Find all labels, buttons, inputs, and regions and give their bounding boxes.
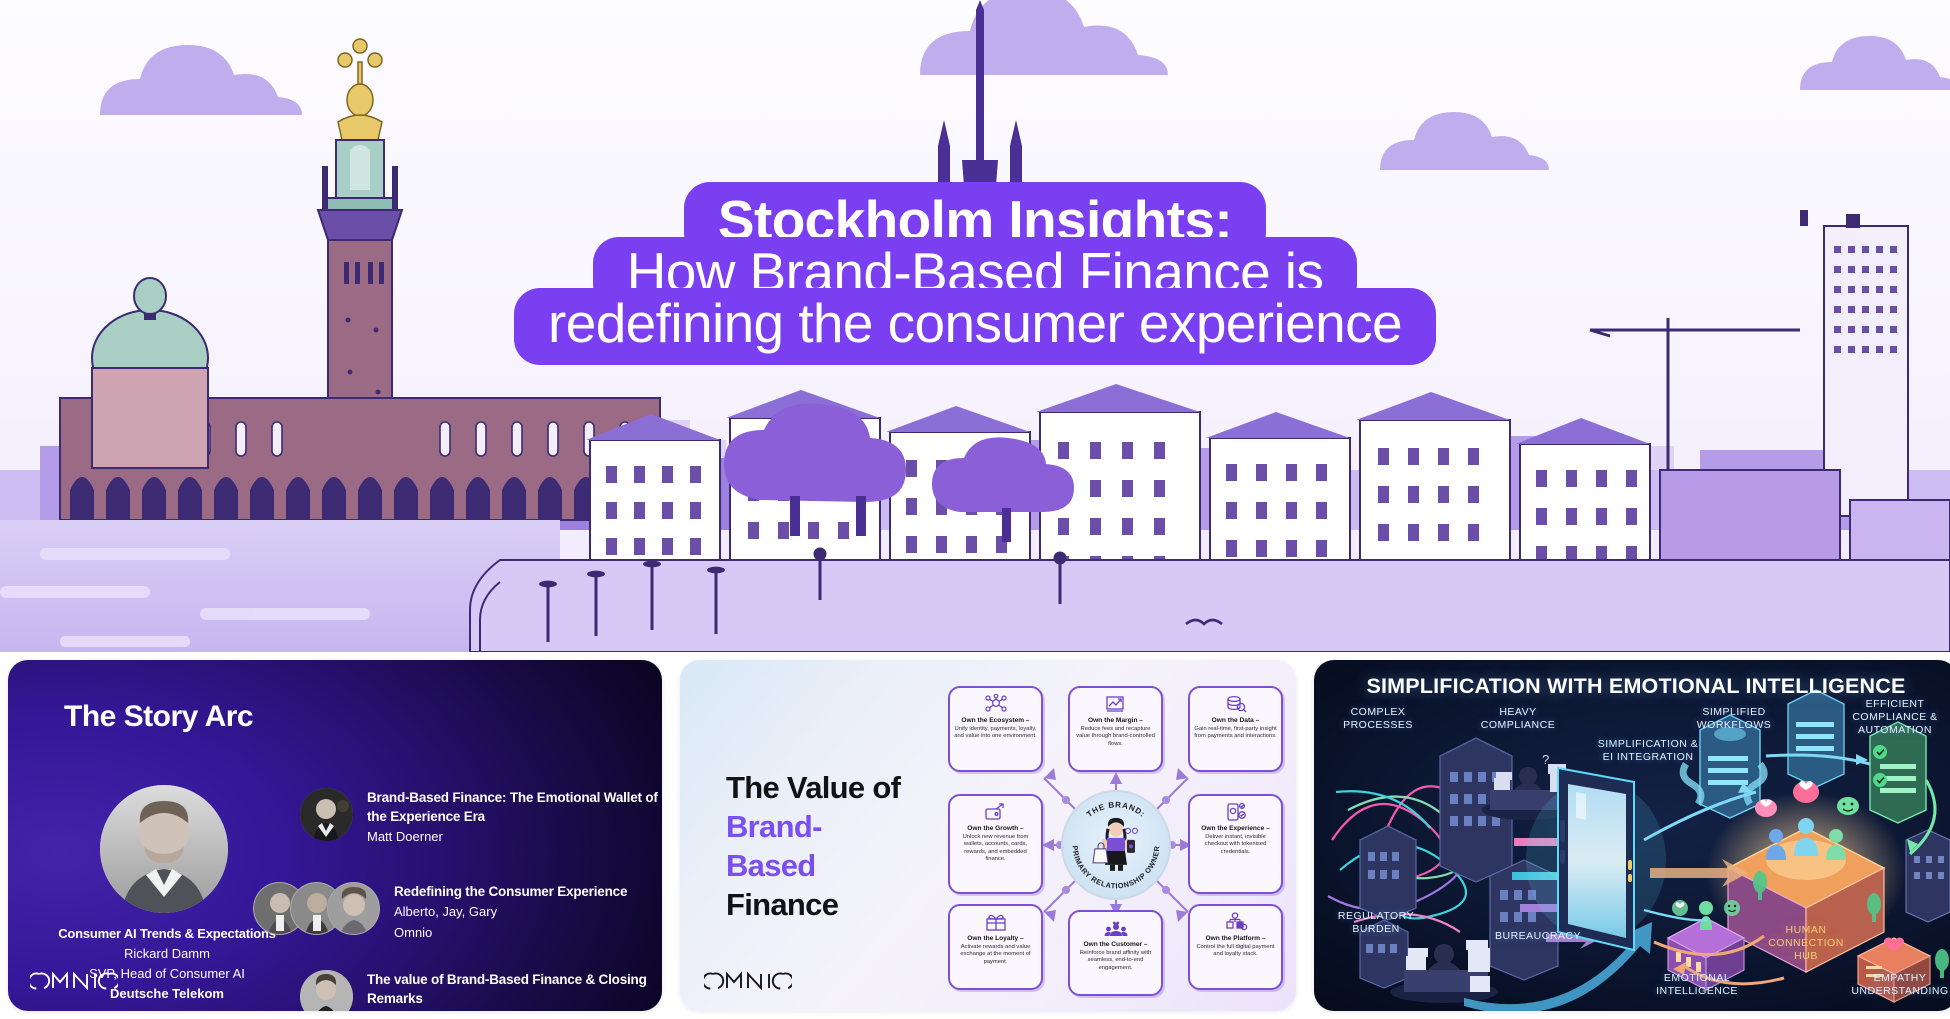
session-title: Redefining the Consumer Experience [394, 882, 627, 901]
session-title: Brand-Based Finance: The Emotional Walle… [367, 788, 662, 826]
compliance-server [1788, 690, 1844, 787]
panel-simplification-ei[interactable]: ? [1314, 660, 1950, 1011]
brand-value-diagram: Own the Ecosystem – Unify identity, paym… [948, 682, 1284, 992]
session-speakers: Alberto, Jay, Gary [394, 902, 627, 922]
value-card[interactable]: Own the Experience – Deliver instant, in… [1188, 794, 1283, 894]
value-title-line-3: Based [726, 846, 900, 885]
session-company: Omnio [394, 923, 627, 943]
speaker-avatar [300, 970, 353, 1011]
keynote-avatar [100, 785, 228, 913]
value-card-heading: Own the Growth – [967, 825, 1023, 833]
promenade [470, 560, 1950, 652]
hero-title-line-3: redefining the consumer experience [514, 288, 1436, 365]
keynote-name: Rickard Damm [22, 946, 312, 961]
hub-top-label: THE BRAND: [1085, 800, 1147, 819]
mobile-checkout-icon [1224, 801, 1248, 823]
omnio-logo [30, 971, 118, 996]
value-card[interactable]: Own the Margin – Reduce fees and recaptu… [1068, 686, 1163, 772]
speaker-avatar-group [253, 882, 380, 935]
value-card[interactable]: Own the Growth – Unlock new revenue from… [948, 794, 1043, 894]
value-card-heading: Own the Data – [1212, 717, 1260, 725]
value-card-heading: Own the Customer – [1083, 941, 1147, 949]
session-title: The value of Brand-Based Finance & Closi… [367, 970, 662, 1008]
value-card[interactable]: Own the Loyalty – Activate rewards and v… [948, 904, 1043, 990]
value-card-body: Gain real-time, first-party insight from… [1194, 726, 1277, 741]
wallet-arrow-up-icon [984, 801, 1008, 823]
gift-box-icon [984, 911, 1008, 933]
platform-stack-icon [1224, 911, 1248, 933]
value-card-heading: Own the Experience – [1201, 825, 1270, 833]
value-card-body: Reinforce brand affinity with seamless, … [1074, 950, 1157, 972]
brand-hub-circle: THE BRAND: PRIMARY RELATIONSHIP OWNER [1061, 790, 1171, 900]
label-simplification-ei: SIMPLIFICATION &EI INTEGRATION [1592, 738, 1704, 764]
panel-row: The Story Arc Consumer AI Trends & Expec… [0, 660, 1950, 1019]
value-title-line-2: Brand- [726, 807, 900, 846]
panel-story-arc[interactable]: The Story Arc Consumer AI Trends & Expec… [8, 660, 662, 1011]
value-card-heading: Own the Platform – [1205, 935, 1265, 943]
shopper-figure-icon [1091, 818, 1141, 877]
panel-value-brand-based-finance[interactable]: The Value of Brand- Based Finance [680, 660, 1296, 1011]
value-title-line-1: The Value of [726, 768, 900, 807]
session-speakers: Matt Doerner [367, 827, 662, 847]
session-item[interactable]: Redefining the Consumer Experience Alber… [253, 882, 627, 942]
ecosystem-network-icon [984, 693, 1008, 715]
value-card-body: Control the full digital payment and loy… [1194, 944, 1277, 959]
margin-growth-chart-icon [1104, 693, 1128, 715]
value-card-heading: Own the Loyalty – [967, 935, 1023, 943]
value-panel-title: The Value of Brand- Based Finance [726, 768, 900, 924]
hero-banner: Stockholm Insights: How Brand-Based Fina… [0, 0, 1950, 652]
value-card-body: Reduce fees and recapture value through … [1074, 726, 1157, 748]
value-card[interactable]: Own the Ecosystem – Unify identity, paym… [948, 686, 1043, 772]
label-regulatory-burden: REGULATORYBURDEN [1324, 910, 1428, 936]
value-title-line-4: Finance [726, 885, 900, 924]
value-card-body: Deliver instant, invisible checkout with… [1194, 834, 1277, 856]
svg-text:THE BRAND:: THE BRAND: [1085, 800, 1147, 819]
label-simplified-workflows: SIMPLIFIEDWORKFLOWS [1682, 706, 1786, 732]
session-speakers: James [367, 1009, 662, 1011]
value-card-heading: Own the Margin – [1088, 717, 1143, 725]
customers-heart-icon [1104, 917, 1128, 939]
hero-title: Stockholm Insights: How Brand-Based Fina… [0, 182, 1950, 365]
label-complex-processes: COMPLEXPROCESSES [1330, 706, 1426, 732]
simplification-title: SIMPLIFICATION WITH EMOTIONAL INTELLIGEN… [1314, 674, 1950, 699]
value-card[interactable]: Own the Customer – Reinforce brand affin… [1068, 910, 1163, 996]
label-emotional-intelligence: EMOTIONALINTELLIGENCE [1642, 972, 1752, 998]
value-card[interactable]: Own the Data – Gain real-time, first-par… [1188, 686, 1283, 772]
value-card-body: Unlock new revenue from wallets, account… [954, 834, 1037, 864]
label-human-connection-hub: HUMANCONNECTIONHUB [1754, 924, 1858, 963]
value-card-body: Activate rewards and value exchange at t… [954, 944, 1037, 966]
session-item[interactable]: Brand-Based Finance: The Emotional Walle… [300, 788, 662, 847]
value-card[interactable]: Own the Platform – Control the full digi… [1188, 904, 1283, 990]
speaker-avatar [300, 788, 353, 841]
story-arc-heading: The Story Arc [64, 700, 253, 734]
label-heavy-compliance: HEAVYCOMPLIANCE [1466, 706, 1570, 732]
slide-page: Stockholm Insights: How Brand-Based Fina… [0, 0, 1950, 1019]
speaker-avatar [327, 882, 380, 935]
label-empathy-understanding: EMPATHYUNDERSTANDING [1844, 972, 1950, 998]
value-card-body: Unify identity, payments, loyalty, and v… [954, 726, 1037, 741]
value-card-heading: Own the Ecosystem – [961, 717, 1029, 725]
session-item[interactable]: The value of Brand-Based Finance & Closi… [300, 970, 662, 1011]
label-efficient-compliance: EFFICIENTCOMPLIANCE &AUTOMATION [1838, 698, 1950, 737]
database-search-icon [1224, 693, 1248, 715]
label-bureaucracy: BUREAUCRACY [1482, 930, 1594, 943]
omnio-logo [704, 971, 792, 996]
svg-text:?: ? [1542, 752, 1549, 767]
